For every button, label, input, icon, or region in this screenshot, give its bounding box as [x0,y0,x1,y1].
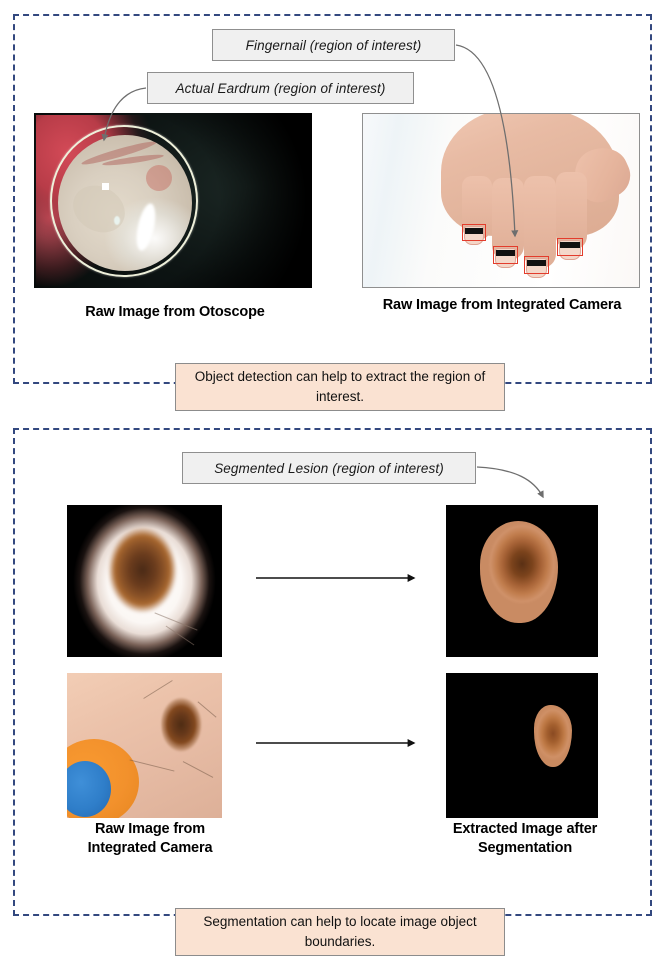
callout-segmented-lesion: Segmented Lesion (region of interest) [182,452,476,484]
caption-extracted-segmentation: Extracted Image afterSegmentation [415,820,635,859]
caption-otoscope: Raw Image from Otoscope [22,303,328,322]
raw-dermoscopy-image-1 [67,505,222,657]
detection-label-bar [527,260,546,266]
caption-integrated-camera: Raw Image from Integrated Camera [362,296,642,315]
callout-eardrum: Actual Eardrum (region of interest) [147,72,414,104]
extracted-lesion [534,705,572,767]
eardrum-roi-circle [50,125,198,277]
otoscope-raw-image [34,113,312,288]
detection-label-bar [465,228,483,234]
segmented-lesion-image-1 [446,505,598,657]
callout-fingernail: Fingernail (region of interest) [212,29,455,61]
finger [524,176,556,268]
conclusion-object-detection: Object detection can help to extract the… [175,363,505,411]
caption-raw-integrated-camera: Raw Image fromIntegrated Camera [40,820,260,859]
detection-label-bar [496,250,515,256]
raw-skin-image-2 [67,673,222,818]
detection-label-bar [560,242,580,248]
segmented-lesion-image-2 [446,673,598,818]
extracted-lesion [480,521,558,623]
integrated-camera-hand-image [362,113,640,288]
conclusion-segmentation: Segmentation can help to locate image ob… [175,908,505,956]
figure-root: Raw Image from Otoscope Raw Image from I… [0,0,665,965]
